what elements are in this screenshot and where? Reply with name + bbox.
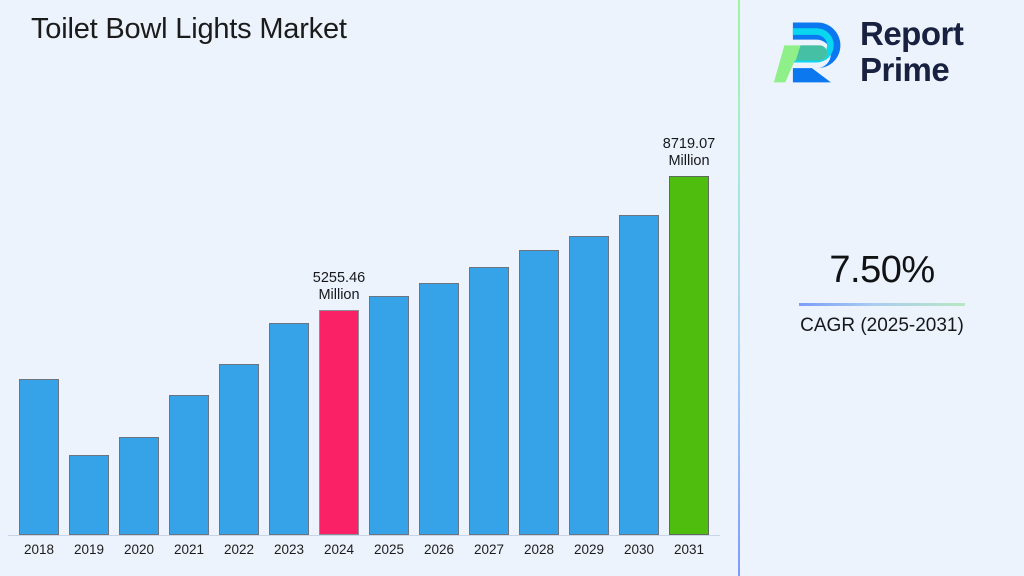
bar-group-2019 <box>66 120 112 536</box>
bar-2022[interactable] <box>219 364 259 535</box>
brand-panel: Report Prime 7.50% CAGR (2025-2031) <box>740 0 1024 576</box>
x-tick-2030: 2030 <box>616 542 662 557</box>
bar-group-2024: 5255.46Million <box>316 120 362 536</box>
bar-group-2021 <box>166 120 212 536</box>
chart-panel: Toilet Bowl Lights Market 5255.46Million… <box>0 0 738 576</box>
bar-2030[interactable] <box>619 215 659 535</box>
bar-2018[interactable] <box>19 379 59 535</box>
x-tick-2024: 2024 <box>316 542 362 557</box>
x-tick-2031: 2031 <box>666 542 712 557</box>
x-tick-2025: 2025 <box>366 542 412 557</box>
bar-2023[interactable] <box>269 323 309 535</box>
bar-2025[interactable] <box>369 296 409 535</box>
bar-2021[interactable] <box>169 395 209 535</box>
plot-area: 5255.46Million8719.07Million <box>0 120 738 536</box>
bar-2020[interactable] <box>119 437 159 535</box>
bar-2026[interactable] <box>419 283 459 535</box>
x-tick-2026: 2026 <box>416 542 462 557</box>
bar-group-2029 <box>566 120 612 536</box>
x-tick-2023: 2023 <box>266 542 312 557</box>
brand-name-line1: Report <box>860 16 963 52</box>
x-tick-2022: 2022 <box>216 542 262 557</box>
bar-group-2030 <box>616 120 662 536</box>
report-prime-logo-icon <box>772 14 848 90</box>
bar-group-2022 <box>216 120 262 536</box>
x-axis-labels: 2018201920202021202220232024202520262027… <box>0 536 738 576</box>
bar-group-2031: 8719.07Million <box>666 120 712 536</box>
cagr-value: 7.50% <box>740 250 1024 292</box>
brand-logo[interactable]: Report Prime <box>772 14 963 90</box>
brand-name: Report Prime <box>860 16 963 87</box>
bar-group-2023 <box>266 120 312 536</box>
x-tick-2019: 2019 <box>66 542 112 557</box>
x-tick-2020: 2020 <box>116 542 162 557</box>
x-tick-2021: 2021 <box>166 542 212 557</box>
bar-group-2028 <box>516 120 562 536</box>
bar-2031[interactable] <box>669 176 709 535</box>
brand-name-line2: Prime <box>860 52 963 88</box>
bar-value-label-2031: 8719.07Million <box>663 136 715 170</box>
bar-group-2026 <box>416 120 462 536</box>
x-tick-2028: 2028 <box>516 542 562 557</box>
bar-value-label-2024: 5255.46Million <box>313 270 365 304</box>
bar-group-2018 <box>16 120 62 536</box>
bar-group-2027 <box>466 120 512 536</box>
page-title: Toilet Bowl Lights Market <box>31 13 347 46</box>
bar-2028[interactable] <box>519 250 559 535</box>
chart-page: Toilet Bowl Lights Market 5255.46Million… <box>0 0 1024 576</box>
bar-2029[interactable] <box>569 236 609 535</box>
x-tick-2029: 2029 <box>566 542 612 557</box>
bar-2019[interactable] <box>69 455 109 535</box>
cagr-divider-rule <box>799 303 965 306</box>
bar-2027[interactable] <box>469 267 509 535</box>
bar-group-2025 <box>366 120 412 536</box>
cagr-block: 7.50% CAGR (2025-2031) <box>740 250 1024 337</box>
x-tick-2018: 2018 <box>16 542 62 557</box>
x-tick-2027: 2027 <box>466 542 512 557</box>
bar-2024[interactable] <box>319 310 359 535</box>
bar-group-2020 <box>116 120 162 536</box>
cagr-label: CAGR (2025-2031) <box>740 315 1024 337</box>
